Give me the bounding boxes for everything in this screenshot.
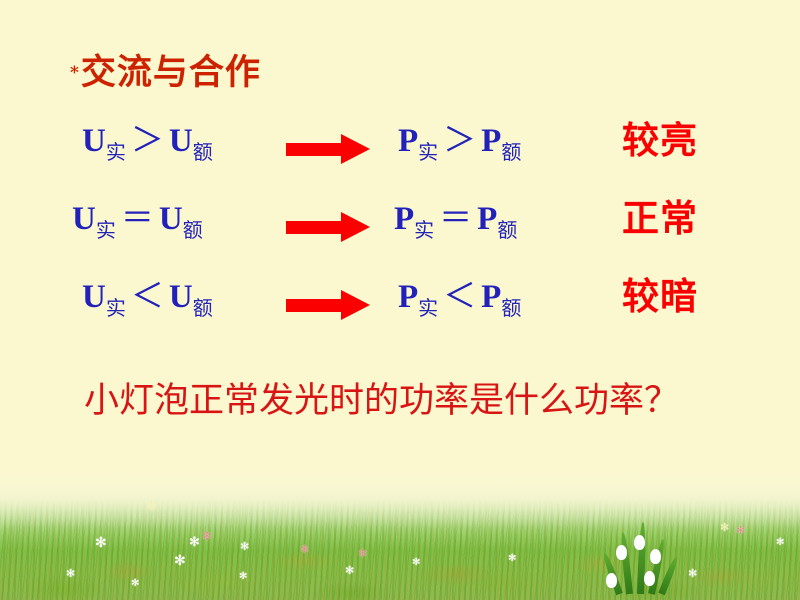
formula-row: U实＜U额 P实＜P额 较暗 xyxy=(0,274,800,338)
comparison-operator: ＝ xyxy=(434,198,477,237)
power-actual-symbol: P xyxy=(394,201,414,237)
flower-icon: ✻ xyxy=(300,544,309,555)
flower-icon: ✻ xyxy=(736,525,745,536)
brightness-verdict: 较亮 xyxy=(622,118,698,162)
power-rated-symbol: P xyxy=(481,279,501,315)
voltage-rated-symbol: U xyxy=(169,279,193,315)
brightness-verdict: 正常 xyxy=(622,196,698,240)
plant-flower-petal xyxy=(644,571,655,586)
power-actual-symbol: P xyxy=(398,279,418,315)
power-rated-symbol: P xyxy=(481,123,501,159)
comparison-operator: ＜ xyxy=(126,276,169,315)
power-actual-subscript: 实 xyxy=(418,296,438,320)
power-comparison-expression: P实＜P额 xyxy=(398,274,521,330)
power-rated-subscript: 额 xyxy=(497,218,517,242)
flower-icon: ✻ xyxy=(239,572,247,582)
flower-icon: ✻ xyxy=(95,536,107,550)
power-comparison-expression: P实＝P额 xyxy=(394,196,517,252)
flower-icon: ✻ xyxy=(240,541,249,552)
tall-plant-decoration xyxy=(600,516,695,594)
power-rated-subscript: 额 xyxy=(501,296,521,320)
voltage-comparison-expression: U实＞U额 xyxy=(82,118,213,174)
flower-icon: ✻ xyxy=(66,568,75,579)
flower-icon: ✻ xyxy=(174,554,186,568)
formula-row: U实＝U额 P实＝P额 正常 xyxy=(0,196,800,260)
flower-icon: ✻ xyxy=(720,522,729,533)
arrow-head xyxy=(341,212,370,242)
voltage-actual-subscript: 实 xyxy=(96,218,116,242)
flower-icon: ✻ xyxy=(189,536,200,549)
comparison-operator: ＞ xyxy=(126,120,169,159)
arrow-head xyxy=(341,290,370,320)
voltage-rated-symbol: U xyxy=(169,123,193,159)
flower-icon: ✻ xyxy=(202,530,212,542)
title-text: 交流与合作 xyxy=(81,52,261,93)
plant-flower-petal xyxy=(606,573,617,588)
voltage-actual-symbol: U xyxy=(82,123,106,159)
voltage-comparison-expression: U实＜U额 xyxy=(82,274,213,330)
flower-icon: ✻ xyxy=(131,579,139,589)
comparison-operator: ＝ xyxy=(116,198,159,237)
power-actual-subscript: 实 xyxy=(414,218,434,242)
arrow-head xyxy=(341,134,370,164)
right-arrow-icon xyxy=(286,134,370,164)
brightness-verdict: 较暗 xyxy=(622,274,698,318)
arrow-shaft xyxy=(286,299,345,312)
slide-title: *交流与合作 xyxy=(70,44,261,95)
plant-flower-petal xyxy=(650,549,661,564)
title-asterisk-marker: * xyxy=(70,63,80,83)
flower-icon: ✻ xyxy=(146,500,157,513)
power-actual-subscript: 实 xyxy=(418,140,438,164)
power-rated-symbol: P xyxy=(477,201,497,237)
comparison-operator: ＞ xyxy=(438,120,481,159)
voltage-actual-subscript: 实 xyxy=(106,140,126,164)
voltage-rated-symbol: U xyxy=(159,201,183,237)
arrow-shaft xyxy=(286,143,345,156)
right-arrow-icon xyxy=(286,290,370,320)
flower-icon: ✻ xyxy=(776,538,784,548)
comparison-operator: ＜ xyxy=(438,276,481,315)
grass-field-decoration: ✻ ✻ ✻ ✻ ✻ ✻ ✻ ✻ ✻ ✻ ✻ ✻ ✻ ✻ ✻ ✻ ✻ ✻ xyxy=(0,470,800,600)
voltage-rated-subscript: 额 xyxy=(183,218,203,242)
right-arrow-icon xyxy=(286,212,370,242)
voltage-rated-subscript: 额 xyxy=(193,296,213,320)
formula-row: U实＞U额 P实＞P额 较亮 xyxy=(0,118,800,182)
power-comparison-expression: P实＞P额 xyxy=(398,118,521,174)
voltage-actual-subscript: 实 xyxy=(106,296,126,320)
voltage-comparison-expression: U实＝U额 xyxy=(72,196,203,252)
discussion-question: 小灯泡正常发光时的功率是什么功率？ xyxy=(84,372,679,423)
voltage-actual-symbol: U xyxy=(82,279,106,315)
flower-icon: ✻ xyxy=(358,548,367,559)
flower-icon: ✻ xyxy=(345,565,354,576)
power-actual-symbol: P xyxy=(398,123,418,159)
voltage-actual-symbol: U xyxy=(72,201,96,237)
slide-canvas: ✻ ✻ ✻ ✻ ✻ ✻ ✻ ✻ ✻ ✻ ✻ ✻ ✻ ✻ ✻ ✻ ✻ ✻ * xyxy=(0,0,800,600)
plant-flower-petal xyxy=(634,535,645,550)
voltage-rated-subscript: 额 xyxy=(193,140,213,164)
flower-icon: ✻ xyxy=(508,554,516,564)
arrow-shaft xyxy=(286,221,345,234)
power-rated-subscript: 额 xyxy=(501,140,521,164)
flower-icon: ✻ xyxy=(412,558,420,568)
plant-blade xyxy=(620,532,633,594)
plant-flower-petal xyxy=(616,545,627,560)
